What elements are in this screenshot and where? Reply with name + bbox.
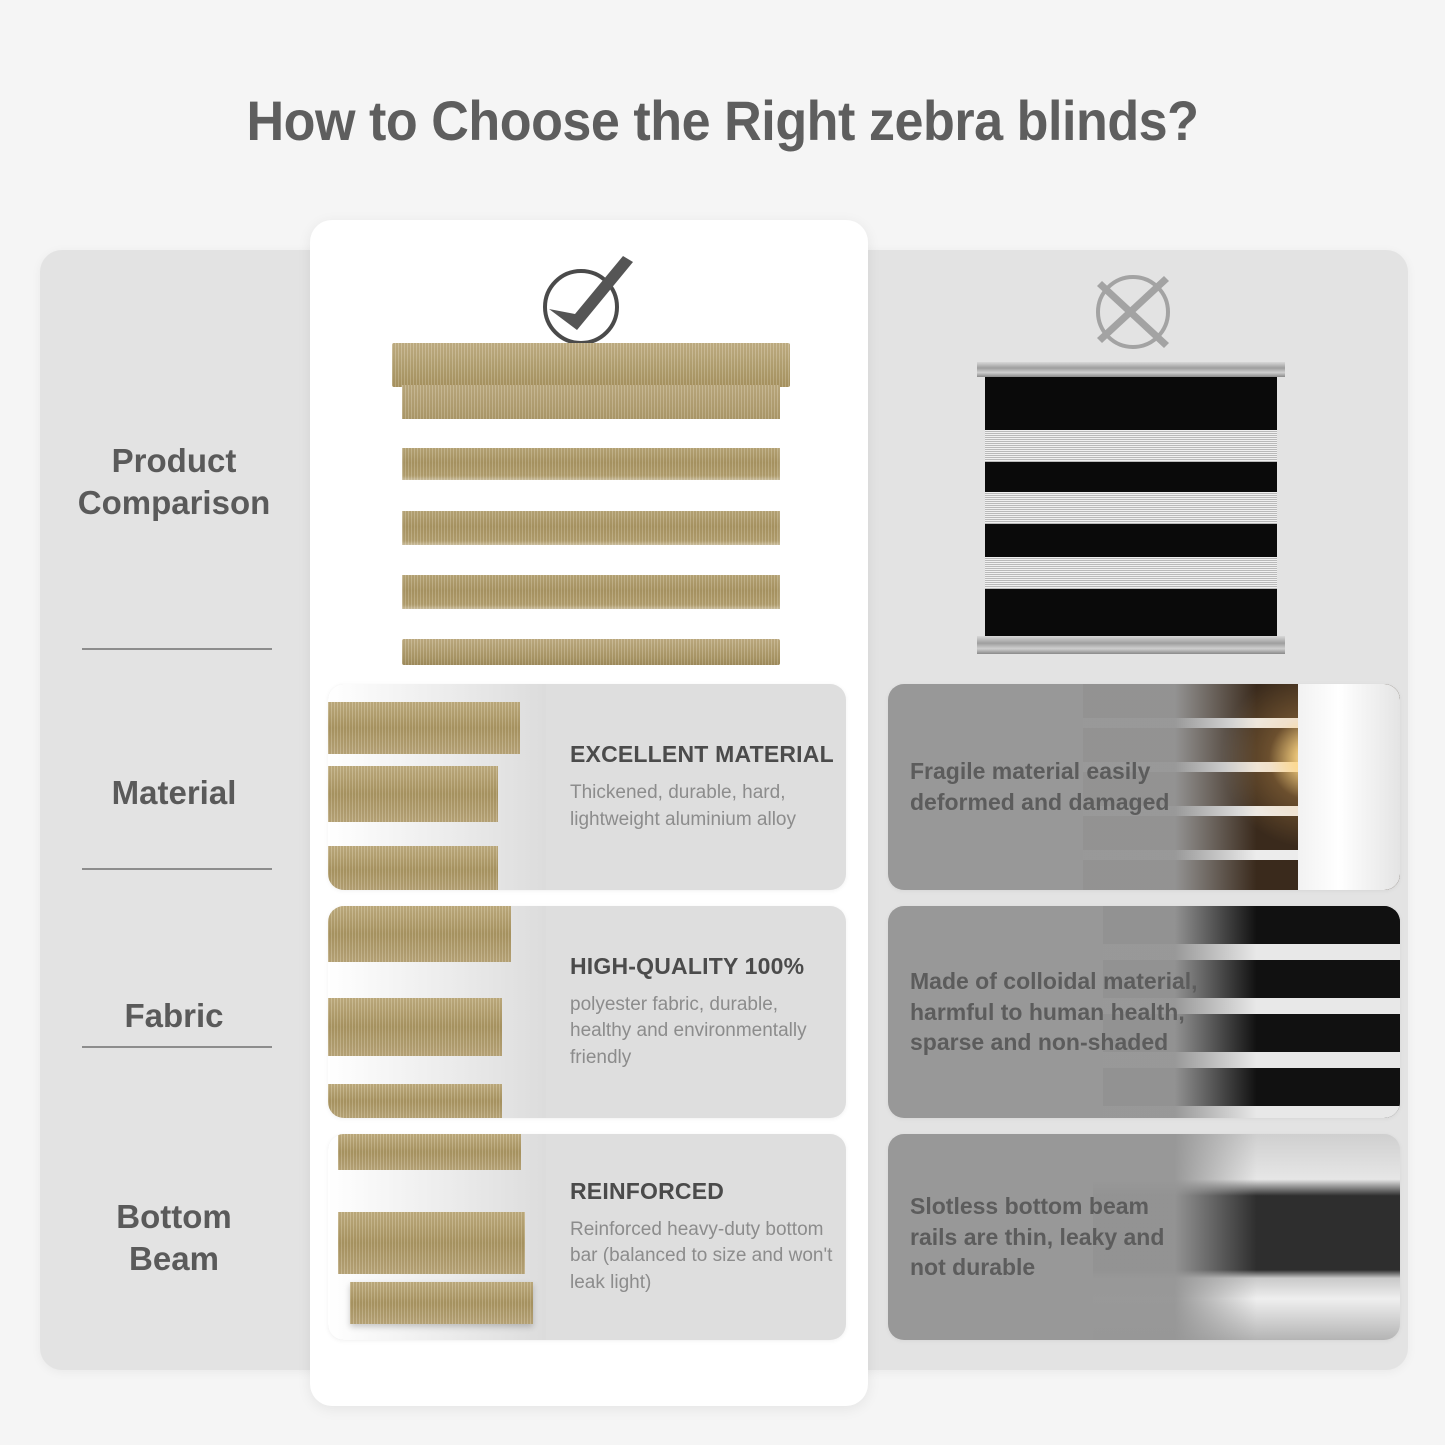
row-label-product-comparison: Product Comparison bbox=[40, 440, 308, 524]
wood-slat bbox=[328, 998, 502, 1056]
check-circle-icon bbox=[533, 252, 643, 352]
material-photo bbox=[328, 684, 546, 890]
row-label-line1: Product bbox=[112, 442, 237, 479]
feature-text: Slotless bottom beam rails are thin, lea… bbox=[910, 1191, 1200, 1283]
row-label-line2: Beam bbox=[129, 1240, 219, 1277]
product-headrail-front bbox=[402, 385, 780, 419]
wood-slat bbox=[338, 1212, 525, 1274]
feature-text: Made of colloidal material, harmful to h… bbox=[910, 966, 1200, 1058]
product-slat bbox=[402, 448, 780, 480]
row-label-line1: Bottom bbox=[116, 1198, 231, 1235]
photo-composition bbox=[328, 1134, 546, 1340]
page-title: How to Choose the Right zebra blinds? bbox=[51, 88, 1395, 153]
product-sheer-stripe bbox=[985, 492, 1277, 524]
feature-heading: REINFORCED bbox=[570, 1178, 834, 1205]
material-text-block: EXCELLENT MATERIAL Thickened, durable, h… bbox=[570, 684, 834, 890]
wood-slat bbox=[328, 906, 511, 962]
fabric-text-block: Made of colloidal material, harmful to h… bbox=[910, 906, 1200, 1118]
feature-card-material-good: EXCELLENT MATERIAL Thickened, durable, h… bbox=[328, 684, 846, 890]
product-slat bbox=[402, 575, 780, 609]
product-slat bbox=[402, 511, 780, 545]
feature-card-fabric-bad: Made of colloidal material, harmful to h… bbox=[888, 906, 1400, 1118]
product-bottom-rail bbox=[977, 636, 1285, 654]
reinforced-bottom-bar bbox=[350, 1282, 533, 1324]
fabric-text-block: HIGH-QUALITY 100% polyester fabric, dura… bbox=[570, 906, 834, 1118]
non-recommended-product-image bbox=[985, 372, 1277, 642]
product-headrail bbox=[392, 343, 790, 387]
feature-heading: HIGH-QUALITY 100% bbox=[570, 953, 834, 980]
product-sheer-stripe bbox=[985, 430, 1277, 462]
feature-body: Reinforced heavy-duty bottom bar (balanc… bbox=[570, 1217, 834, 1296]
product-bottom-rail bbox=[402, 639, 780, 665]
product-headrail bbox=[977, 362, 1285, 377]
feature-text: Fragile material easily deformed and dam… bbox=[910, 756, 1200, 818]
photo-composition bbox=[328, 684, 546, 890]
wood-slat bbox=[328, 702, 520, 754]
bottom-beam-text-block: REINFORCED Reinforced heavy-duty bottom … bbox=[570, 1134, 834, 1340]
feature-body: polyester fabric, durable, healthy and e… bbox=[570, 992, 834, 1071]
wood-slat bbox=[328, 1084, 502, 1118]
row-label-column: Product Comparison Material Fabric Botto… bbox=[40, 250, 308, 1370]
wood-slat bbox=[338, 1134, 521, 1170]
infographic-page: How to Choose the Right zebra blinds? Pr… bbox=[0, 0, 1445, 1445]
row-label-line2: Comparison bbox=[78, 484, 271, 521]
row-label-fabric: Fabric bbox=[40, 995, 308, 1037]
feature-card-bottom-beam-good: REINFORCED Reinforced heavy-duty bottom … bbox=[328, 1134, 846, 1340]
recommended-product-image bbox=[392, 343, 790, 665]
feature-card-fabric-good: HIGH-QUALITY 100% polyester fabric, dura… bbox=[328, 906, 846, 1118]
row-label-material: Material bbox=[40, 772, 308, 814]
feature-body: Thickened, durable, hard, lightweight al… bbox=[570, 780, 834, 832]
row-divider-1 bbox=[82, 648, 272, 650]
bottom-beam-photo bbox=[328, 1134, 546, 1340]
row-divider-2 bbox=[82, 868, 272, 870]
material-text-block: Fragile material easily deformed and dam… bbox=[910, 684, 1200, 890]
feature-card-bottom-beam-bad: Slotless bottom beam rails are thin, lea… bbox=[888, 1134, 1400, 1340]
row-divider-3 bbox=[82, 1046, 272, 1048]
cross-circle-icon bbox=[1078, 262, 1188, 362]
wood-slat bbox=[328, 766, 498, 822]
row-label-bottom-beam: Bottom Beam bbox=[40, 1196, 308, 1280]
feature-card-material-bad: Fragile material easily deformed and dam… bbox=[888, 684, 1400, 890]
bottom-beam-text-block: Slotless bottom beam rails are thin, lea… bbox=[910, 1134, 1200, 1340]
product-sheer-stripe bbox=[985, 557, 1277, 589]
feature-heading: EXCELLENT MATERIAL bbox=[570, 741, 834, 768]
wood-slat bbox=[328, 846, 498, 890]
fabric-photo bbox=[328, 906, 546, 1118]
photo-composition bbox=[328, 906, 546, 1118]
